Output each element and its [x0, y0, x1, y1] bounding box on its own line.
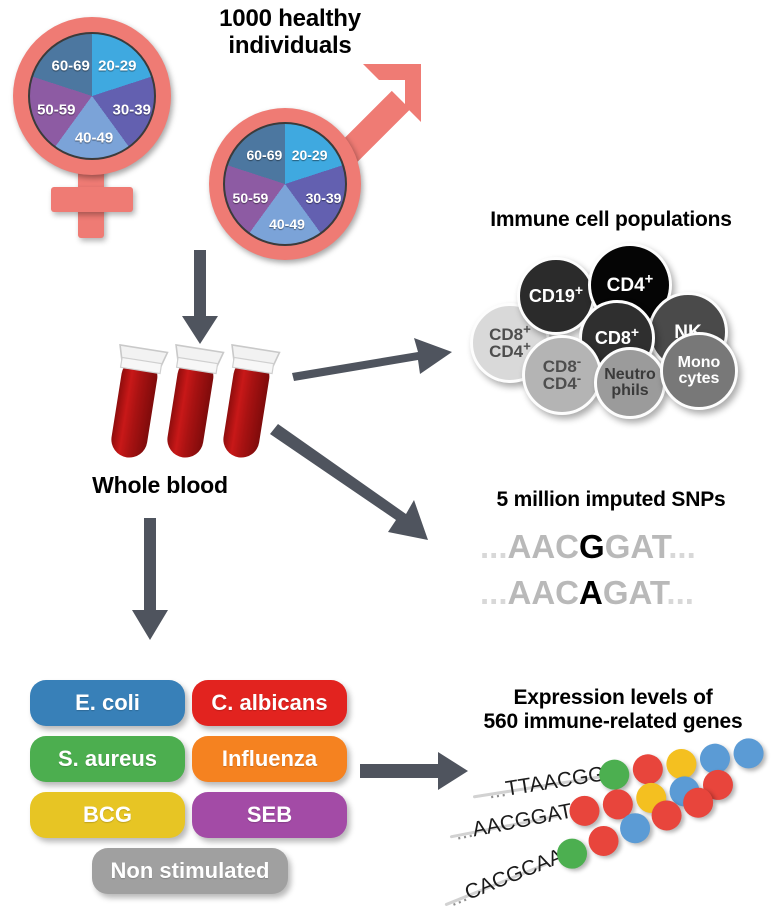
- snps-sequences: ...AACGGAT... ...AACAGAT...: [480, 528, 740, 618]
- arrow-blood-to-stimulations: [128, 518, 174, 644]
- snp-row-allele-1: ...AACGGAT...: [480, 528, 696, 566]
- expression-strands-group: ...TTAACGG ...AACGGAT ...CACGCAA: [455, 740, 771, 915]
- cell-monocytes: Monocytes: [660, 332, 738, 410]
- arrow-cohort-to-blood: [178, 250, 222, 348]
- cell-cd4-pos-label: CD4+: [607, 276, 654, 295]
- cell-monocytes-label: Monocytes: [678, 355, 721, 387]
- cohort-heading-line2: individuals: [160, 33, 420, 60]
- snp-row-1-left: AAC: [508, 528, 580, 565]
- snp-row-1-right: GAT: [605, 528, 669, 565]
- stimulation-panel: E. coli C. albicans S. aureus Influenza …: [30, 680, 350, 895]
- cohort-heading: 1000 healthy individuals: [160, 6, 420, 60]
- stimulation-non-stimulated[interactable]: Non stimulated: [92, 848, 288, 894]
- cell-neutrophils-label: Neutrophils: [604, 367, 656, 399]
- female-gender-symbol: 20-2930-3940-4950-5960-69: [8, 12, 183, 247]
- expression-heading-line1: Expression levels of: [458, 686, 768, 710]
- strand-3-sequence: ...CACGCAA: [445, 844, 567, 912]
- immune-heading: Immune cell populations: [455, 208, 767, 232]
- age-slice-label-40-49: 40-49: [75, 129, 113, 146]
- snp-row-1-variant: G: [579, 528, 605, 565]
- age-slice-label-50-59: 50-59: [233, 190, 269, 206]
- age-slice-label-30-39: 30-39: [306, 190, 342, 206]
- male-gender-symbol: 20-2930-3940-4950-5960-69: [205, 80, 420, 265]
- whole-blood-label: Whole blood: [60, 473, 260, 499]
- age-slice-label-30-39: 30-39: [113, 102, 151, 119]
- strand-2-sequence: ...AACGGAT: [453, 800, 574, 846]
- stimulation-c-albicans[interactable]: C. albicans: [192, 680, 347, 726]
- snps-heading: 5 million imputed SNPs: [455, 488, 767, 512]
- snp-row-allele-2: ...AACAGAT...: [480, 574, 694, 612]
- immune-cells-group: CD8+CD4+ CD19+ CD4+ NK CD8+ CD8-CD4- Neu…: [460, 240, 760, 420]
- arrow-blood-to-snps: [278, 420, 453, 550]
- age-slice-label-40-49: 40-49: [269, 216, 305, 232]
- snp-row-2-suffix: ...: [666, 574, 694, 611]
- stimulation-seb[interactable]: SEB: [192, 792, 347, 838]
- snp-row-2-prefix: ...: [480, 574, 508, 611]
- female-age-pie-chart: 20-2930-3940-4950-5960-69: [28, 32, 156, 160]
- cohort-heading-line1: 1000 healthy: [160, 6, 420, 33]
- cell-cd8pos-cd4pos-label: CD8+CD4+: [489, 326, 531, 360]
- snp-row-1-suffix: ...: [668, 528, 696, 565]
- snp-row-2-variant: A: [579, 574, 603, 611]
- age-slice-label-50-59: 50-59: [37, 102, 75, 119]
- cell-cd8-pos-label: CD8+: [595, 329, 639, 347]
- stimulation-influenza[interactable]: Influenza: [192, 736, 347, 782]
- arrow-blood-to-immune-cells: [292, 330, 457, 382]
- stimulation-s-aureus[interactable]: S. aureus: [30, 736, 185, 782]
- stimulation-bcg[interactable]: BCG: [30, 792, 185, 838]
- cell-cd19-pos-label: CD19+: [529, 287, 583, 305]
- expression-heading-line2: 560 immune-related genes: [458, 710, 768, 734]
- age-slice-label-60-69: 60-69: [246, 147, 282, 163]
- cell-neutrophils: Neutrophils: [594, 347, 666, 419]
- age-slice-label-60-69: 60-69: [51, 57, 89, 74]
- blood-tubes-group: [95, 340, 285, 465]
- snp-row-1-prefix: ...: [480, 528, 508, 565]
- snp-row-2-left: AAC: [508, 574, 580, 611]
- age-slice-label-20-29: 20-29: [292, 147, 328, 163]
- stimulation-e-coli[interactable]: E. coli: [30, 680, 185, 726]
- cell-cd8neg-cd4neg-label: CD8-CD4-: [543, 358, 581, 392]
- expression-heading: Expression levels of 560 immune-related …: [458, 686, 768, 733]
- strand-3-bead-2: [584, 821, 623, 860]
- cell-cd8neg-cd4neg: CD8-CD4-: [522, 335, 602, 415]
- snp-row-2-right: GAT: [603, 574, 667, 611]
- female-symbol-crossbar: [51, 187, 133, 212]
- age-slice-label-20-29: 20-29: [98, 57, 136, 74]
- arrow-stimulations-to-expression: [360, 752, 470, 790]
- male-age-pie-chart: 20-2930-3940-4950-5960-69: [223, 122, 347, 246]
